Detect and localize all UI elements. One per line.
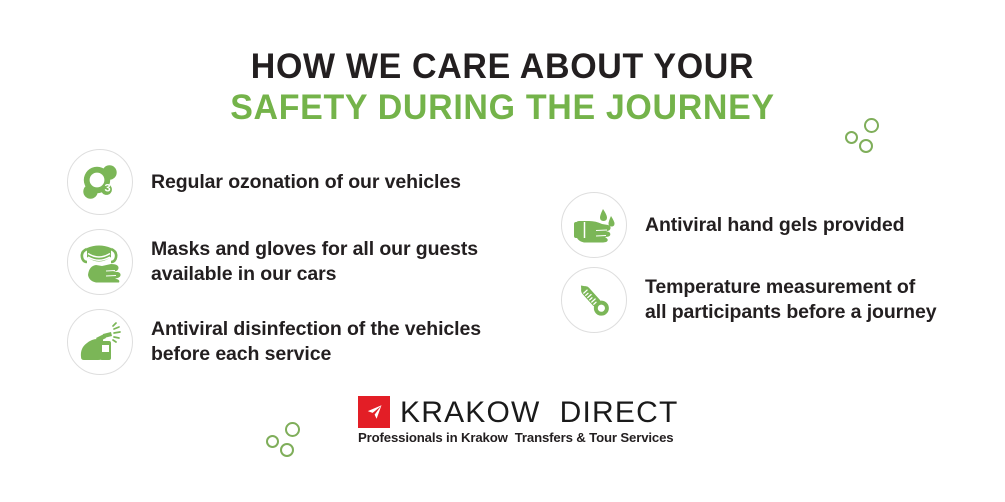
face-mask-gloves-icon xyxy=(78,241,122,283)
feature-item-masks-gloves: Masks and gloves for all our guests avai… xyxy=(67,229,478,295)
logo-wordmark: KRAKOW DIRECT xyxy=(400,397,678,428)
thermometer-icon-circle xyxy=(561,267,627,333)
feature-label-ozonation: Regular ozonation of our vehicles xyxy=(151,170,461,195)
three-rings-decoration-top-right xyxy=(845,118,885,156)
ring-icon xyxy=(266,435,279,448)
paper-plane-arrow-icon xyxy=(358,396,390,428)
ring-icon xyxy=(864,118,879,133)
ring-icon xyxy=(859,139,873,153)
spray-bottle-hand-icon xyxy=(78,321,122,363)
feature-item-hand-gels: Antiviral hand gels provided xyxy=(561,192,904,258)
headline-line-2: SAFETY DURING THE JOURNEY xyxy=(15,89,990,127)
ring-icon xyxy=(845,131,858,144)
hand-sanitizer-gel-icon-circle xyxy=(561,192,627,258)
thermometer-icon xyxy=(574,280,614,320)
feature-item-disinfection: Antiviral disinfection of the vehicles b… xyxy=(67,309,481,375)
headline-line-1: HOW WE CARE ABOUT YOUR xyxy=(15,48,990,86)
feature-label-temperature: Temperature measurement of all participa… xyxy=(645,275,936,325)
feature-item-ozonation: 3 Regular ozonation of our vehicles xyxy=(67,149,461,215)
infographic-page: HOW WE CARE ABOUT YOUR SAFETY DURING THE… xyxy=(0,0,1005,502)
ozone-molecule-icon: 3 xyxy=(79,161,121,203)
feature-label-disinfection: Antiviral disinfection of the vehicles b… xyxy=(151,317,481,367)
logo-top-row: KRAKOW DIRECT xyxy=(358,396,678,428)
svg-text:3: 3 xyxy=(104,183,110,195)
face-mask-gloves-icon-circle xyxy=(67,229,133,295)
feature-label-masks-gloves: Masks and gloves for all our guests avai… xyxy=(151,237,478,287)
feature-label-hand-gels: Antiviral hand gels provided xyxy=(645,213,904,238)
krakow-direct-logo[interactable]: KRAKOW DIRECT Professionals in Krakow Tr… xyxy=(358,396,678,446)
three-rings-decoration-bottom-left xyxy=(266,422,306,460)
hand-sanitizer-gel-icon xyxy=(572,205,616,245)
ring-icon xyxy=(280,443,294,457)
ring-icon xyxy=(285,422,300,437)
feature-item-temperature: Temperature measurement of all participa… xyxy=(561,267,936,333)
spray-bottle-hand-icon-circle xyxy=(67,309,133,375)
logo-tagline: Professionals in Krakow Transfers & Tour… xyxy=(358,430,678,446)
page-title: HOW WE CARE ABOUT YOUR SAFETY DURING THE… xyxy=(0,48,1005,127)
ozone-molecule-icon-circle: 3 xyxy=(67,149,133,215)
